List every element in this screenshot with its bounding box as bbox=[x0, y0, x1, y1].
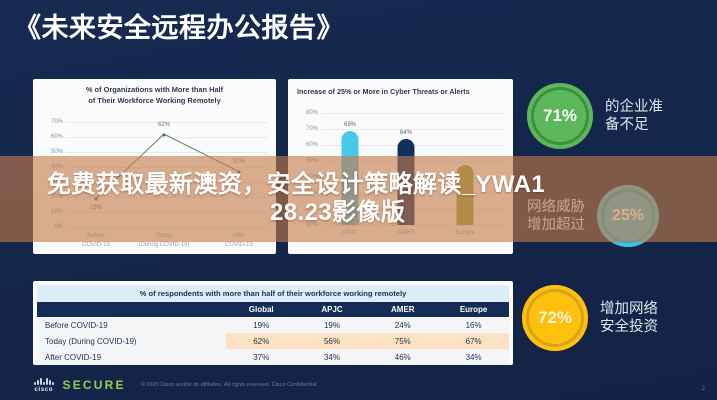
donut-71: 71% bbox=[527, 83, 593, 149]
data-label: 19% bbox=[90, 205, 102, 211]
col-header-blank bbox=[37, 302, 226, 317]
cell-europe: 67% bbox=[438, 333, 509, 349]
page-title: 《未来安全远程办公报告》 bbox=[14, 6, 344, 45]
bar-europe bbox=[457, 165, 474, 225]
cell-apjc: 19% bbox=[297, 317, 368, 333]
bar-label: 69% bbox=[344, 122, 356, 128]
stat-unprepared: 71% 的企业准 备不足 bbox=[527, 83, 663, 149]
y-tick: 60% bbox=[294, 142, 318, 148]
data-label: 62% bbox=[158, 122, 170, 128]
col-header-apjc: APJC bbox=[297, 302, 368, 317]
x-tick: Today(During COVID-19) bbox=[138, 232, 189, 248]
donut-value: 25% bbox=[604, 192, 653, 241]
table-row: Before COVID-19 19% 19% 24% 16% bbox=[37, 317, 509, 333]
bar-chart-card: Increase of 25% or More in Cyber Threats… bbox=[288, 79, 513, 254]
line-chart-plot: 70% 60% 50% 40% 30% 20% 10% 0% 19% 62% 3… bbox=[33, 110, 276, 242]
cell-global: 37% bbox=[226, 349, 297, 365]
cell-global: 62% bbox=[226, 333, 297, 349]
col-header-europe: Europe bbox=[438, 302, 509, 317]
slide-canvas: 《未来安全远程办公报告》 % of Organizations with Mor… bbox=[0, 0, 717, 400]
cell-apjc: 34% bbox=[297, 349, 368, 365]
y-tick: 80% bbox=[294, 110, 318, 116]
donut-value: 71% bbox=[534, 90, 586, 142]
stat-security-investment: 72% 增加网络 安全投资 bbox=[522, 285, 658, 351]
x-tick: AfterCOVID-19 bbox=[225, 232, 253, 248]
table-caption: % of respondents with more than half of … bbox=[37, 285, 509, 302]
stat-label: 的企业准 备不足 bbox=[605, 98, 663, 134]
cell-amer: 46% bbox=[367, 349, 438, 365]
data-point bbox=[163, 133, 166, 136]
line-chart-card: % of Organizations with More than Half o… bbox=[33, 79, 276, 254]
donut-25: 25% bbox=[597, 185, 659, 247]
cell-apjc: 56% bbox=[297, 333, 368, 349]
donut-value: 72% bbox=[529, 292, 581, 344]
table-row: After COVID-19 37% 34% 46% 34% bbox=[37, 349, 509, 365]
col-header-amer: AMER bbox=[367, 302, 438, 317]
cisco-wordmark: cisco bbox=[34, 386, 53, 393]
y-tick: 40% bbox=[294, 174, 318, 180]
y-tick: 70% bbox=[294, 126, 318, 132]
respondents-table-card: % of respondents with more than half of … bbox=[33, 281, 513, 365]
bar-apjc bbox=[342, 131, 359, 226]
stat-label: 增加网络 安全投资 bbox=[600, 300, 658, 336]
cell-amer: 24% bbox=[367, 317, 438, 333]
table-header-row: Global APJC AMER Europe bbox=[37, 302, 509, 317]
x-tick: BeforeCOVID-19 bbox=[82, 232, 110, 248]
data-point bbox=[95, 197, 98, 200]
bar-label: 64% bbox=[400, 130, 412, 136]
row-label: Today (During COVID-19) bbox=[37, 333, 226, 349]
row-label: After COVID-19 bbox=[37, 349, 226, 365]
col-header-global: Global bbox=[226, 302, 297, 317]
x-tick: AMER bbox=[397, 229, 414, 237]
x-tick: APJC bbox=[342, 229, 357, 237]
bar-chart-title: Increase of 25% or More in Cyber Threats… bbox=[288, 79, 513, 97]
stat-cyber-threats: 25% 网络威胁 增加超过 bbox=[527, 185, 659, 247]
line-series bbox=[33, 110, 276, 242]
secure-wordmark: SECURE bbox=[63, 378, 126, 392]
stat-label: 网络威胁 增加超过 bbox=[527, 198, 585, 234]
cell-europe: 16% bbox=[438, 317, 509, 333]
cell-europe: 34% bbox=[438, 349, 509, 365]
data-point bbox=[238, 171, 241, 174]
slide-footer: cisco SECURE © 2020 Cisco and/or its aff… bbox=[0, 370, 717, 400]
y-tick: 20% bbox=[294, 206, 318, 212]
cisco-bridge-icon bbox=[34, 378, 54, 385]
cell-amer: 75% bbox=[367, 333, 438, 349]
table-row: Today (During COVID-19) 62% 56% 75% 67% bbox=[37, 333, 509, 349]
page-number: 2 bbox=[702, 386, 705, 392]
copyright-text: © 2020 Cisco and/or its affiliates. All … bbox=[141, 382, 317, 388]
donut-72: 72% bbox=[522, 285, 588, 351]
row-label: Before COVID-19 bbox=[37, 317, 226, 333]
bar-amer bbox=[398, 139, 415, 226]
bar-chart-plot: 80% 70% 60% 50% 40% 30% 20% 10% 69% 64% … bbox=[288, 99, 513, 239]
respondents-table: % of respondents with more than half of … bbox=[37, 285, 509, 365]
line-chart-title: % of Organizations with More than Half o… bbox=[33, 79, 276, 106]
y-tick: 50% bbox=[294, 158, 318, 164]
y-tick: 30% bbox=[294, 190, 318, 196]
x-tick: Europe bbox=[455, 229, 474, 237]
data-label: 37% bbox=[233, 159, 245, 165]
cisco-logo-icon: cisco bbox=[34, 378, 54, 393]
y-tick: 10% bbox=[294, 222, 318, 228]
cell-global: 19% bbox=[226, 317, 297, 333]
